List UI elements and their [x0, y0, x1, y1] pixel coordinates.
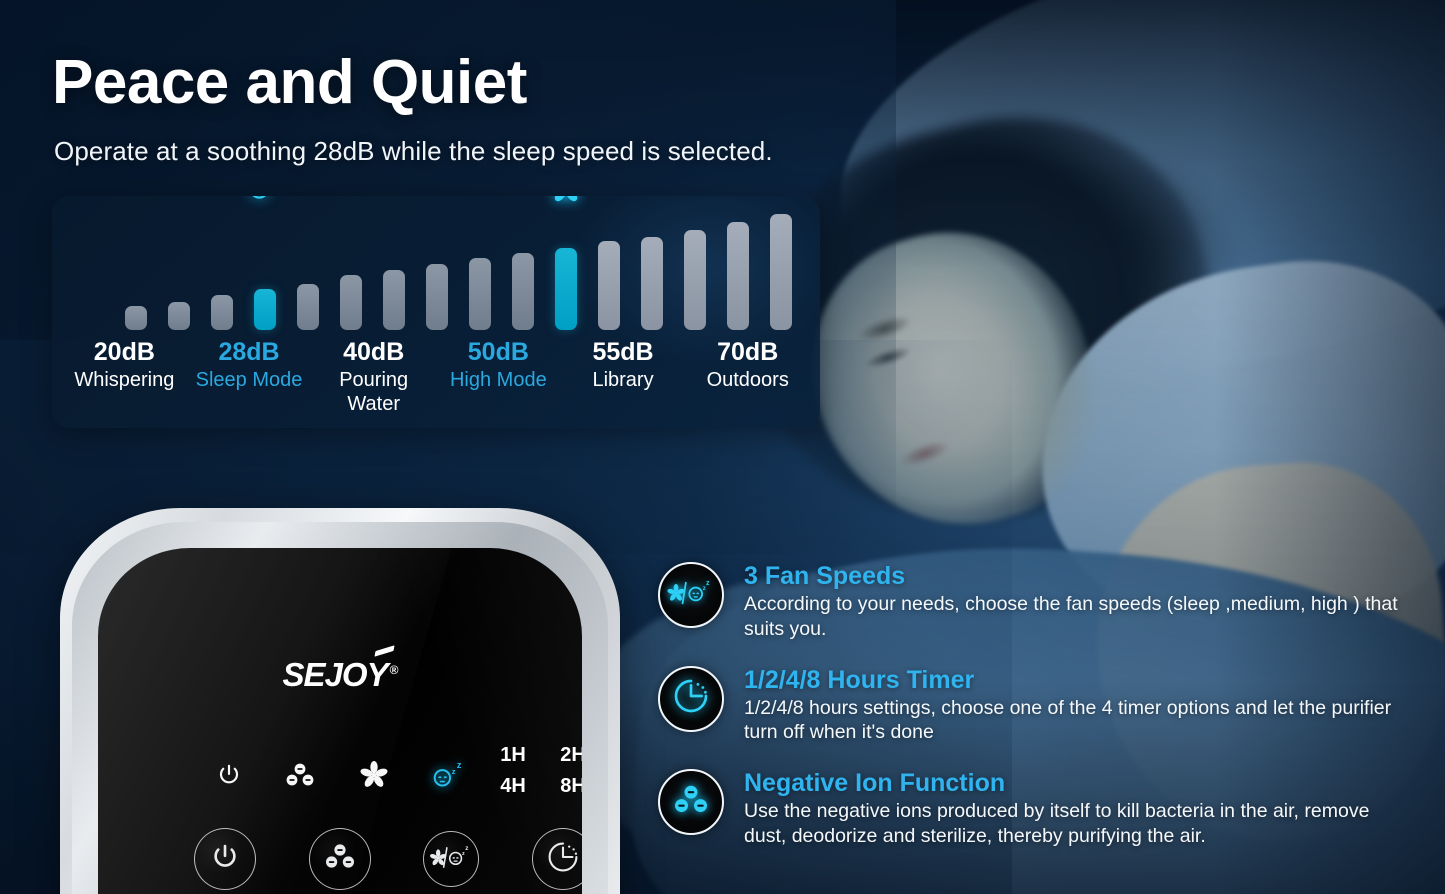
fan-sleep-icon-circle: z z [658, 562, 724, 628]
noise-bar-chart: zz [114, 214, 802, 330]
air-purifier-product: SEJOY® [30, 500, 640, 894]
timer-button[interactable] [532, 828, 582, 890]
feature-item: 1/2/4/8 Hours Timer 1/2/4/8 hours settin… [658, 664, 1418, 746]
timer-label-4h: 4H [488, 775, 538, 798]
feature-text: 3 Fan Speeds According to your needs, ch… [744, 560, 1404, 642]
indicator-row: z z [216, 760, 466, 795]
negative-ion-icon [672, 783, 710, 822]
svg-text:z: z [452, 767, 456, 776]
feature-title: Negative Ion Function [744, 769, 1404, 797]
timer-button-icon [546, 840, 580, 879]
noise-label-db: 40dB [311, 338, 436, 368]
page-subtitle: Operate at a soothing 28dB while the sle… [54, 136, 974, 167]
negative-ion-icon-circle [658, 769, 724, 835]
noise-bar-slot [200, 214, 243, 330]
feature-title: 3 Fan Speeds [744, 562, 1404, 590]
noise-axis-label: 28dBSleep Mode [187, 338, 312, 416]
noise-bar [426, 264, 448, 330]
sleep-face-icon: z z [430, 760, 466, 795]
noise-label-name: Sleep Mode [187, 368, 312, 392]
timer-label-2h: 2H [548, 744, 582, 767]
noise-label-db: 50dB [436, 338, 561, 368]
feature-description: 1/2/4/8 hours settings, choose one of th… [744, 696, 1404, 746]
feature-item: Negative Ion Function Use the negative i… [658, 767, 1418, 849]
timer-label-8h: 8H [548, 775, 582, 798]
registered-mark: ® [390, 663, 398, 677]
fan-sleep-icon: z z [666, 578, 716, 613]
noise-bar [770, 214, 792, 330]
feature-text: 1/2/4/8 Hours Timer 1/2/4/8 hours settin… [744, 664, 1404, 746]
svg-text:z: z [466, 845, 469, 852]
noise-label-name: Outdoors [685, 368, 810, 392]
noise-bar [125, 306, 147, 330]
timer-clock-icon-circle [658, 666, 724, 732]
noise-bar-slot [673, 214, 716, 330]
noise-bar-slot [587, 214, 630, 330]
power-icon [216, 762, 242, 793]
sleep-face-icon: zz [245, 196, 285, 210]
noise-bar-slot [716, 214, 759, 330]
noise-bar [297, 284, 319, 330]
feature-title: 1/2/4/8 Hours Timer [744, 666, 1404, 694]
noise-bar [469, 258, 491, 330]
noise-bar [340, 275, 362, 330]
noise-bar [598, 241, 620, 330]
fan-icon [548, 196, 584, 210]
svg-text:z: z [457, 760, 462, 770]
fan-sleep-button[interactable]: z z [423, 831, 479, 887]
noise-bar [383, 270, 405, 330]
purifier-control-panel: SEJOY® [98, 548, 582, 894]
noise-bar [727, 222, 749, 330]
noise-label-db: 20dB [62, 338, 187, 368]
noise-label-db: 70dB [685, 338, 810, 368]
noise-axis-label: 50dBHigh Mode [436, 338, 561, 416]
noise-axis-label: 55dBLibrary [561, 338, 686, 416]
noise-bar-slot [157, 214, 200, 330]
touch-button-row: z z [194, 828, 582, 890]
timer-clock-icon [672, 677, 710, 720]
noise-bar-slot [286, 214, 329, 330]
noise-bar-slot [630, 214, 673, 330]
noise-label-db: 55dB [561, 338, 686, 368]
noise-label-name: Library [561, 368, 686, 392]
noise-bar-slot [458, 214, 501, 330]
brand-logo: SEJOY® [283, 656, 398, 694]
noise-bar-slot [501, 214, 544, 330]
power-button-icon [210, 842, 240, 877]
noise-label-db: 28dB [187, 338, 312, 368]
noise-bar-slot [114, 214, 157, 330]
negative-ion-button-icon [323, 842, 357, 877]
noise-bar [512, 253, 534, 330]
noise-bar [555, 248, 577, 330]
feature-description: According to your needs, choose the fan … [744, 592, 1404, 642]
noise-bar-slot [329, 214, 372, 330]
brand-logo-text: SEJOY [283, 656, 388, 693]
feature-list: z z 3 Fan Speeds According to your needs… [658, 560, 1418, 871]
negative-ion-button[interactable] [309, 828, 371, 890]
noise-bar [641, 237, 663, 330]
noise-label-name: Whispering [62, 368, 187, 392]
purifier-shell: SEJOY® [60, 508, 620, 894]
noise-comparison-panel: zz 20dBWhispering28dBSleep Mode40dBPouri… [52, 196, 820, 428]
feature-description: Use the negative ions produced by itself… [744, 799, 1404, 849]
noise-bar [211, 295, 233, 330]
noise-axis-labels: 20dBWhispering28dBSleep Mode40dBPouring … [62, 338, 810, 416]
noise-bar-slot: zz [243, 214, 286, 330]
negative-ion-icon [283, 762, 317, 793]
noise-label-name: High Mode [436, 368, 561, 392]
noise-axis-label: 20dBWhispering [62, 338, 187, 416]
page-title: Peace and Quiet [52, 50, 952, 115]
noise-bar [684, 230, 706, 330]
noise-bar-slot [372, 214, 415, 330]
fan-sleep-button-icon: z z [429, 843, 473, 876]
noise-axis-label: 70dBOutdoors [685, 338, 810, 416]
noise-bar [168, 302, 190, 330]
noise-bar [254, 289, 276, 330]
power-button[interactable] [194, 828, 256, 890]
timer-label-1h: 1H [488, 744, 538, 767]
fan-icon [359, 760, 389, 795]
noise-axis-label: 40dBPouring Water [311, 338, 436, 416]
noise-bar-slot [544, 214, 587, 330]
feature-text: Negative Ion Function Use the negative i… [744, 767, 1404, 849]
timer-indicator-grid: 1H 2H 4H 8H [488, 744, 582, 798]
noise-label-name: Pouring Water [311, 368, 436, 416]
feature-item: z z 3 Fan Speeds According to your needs… [658, 560, 1418, 642]
svg-text:z: z [706, 580, 710, 587]
noise-bar-slot [759, 214, 802, 330]
noise-bar-slot [415, 214, 458, 330]
